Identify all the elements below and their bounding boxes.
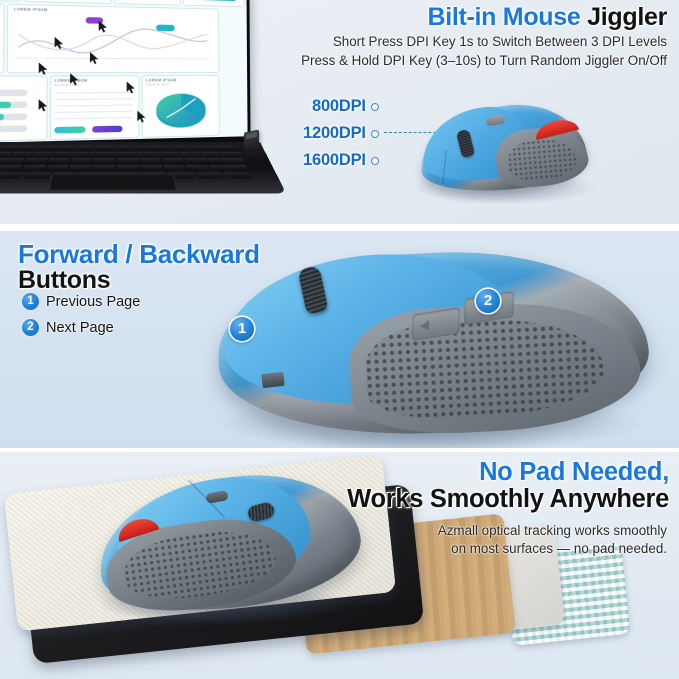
key[interactable] bbox=[57, 145, 75, 150]
panel-no-pad-needed: No Pad Needed, Works Smoothly Anywhere A… bbox=[0, 452, 679, 679]
key[interactable] bbox=[200, 152, 221, 157]
list-label-next-page: Next Page bbox=[46, 320, 114, 336]
key[interactable] bbox=[171, 145, 189, 150]
key-arrow[interactable] bbox=[196, 172, 224, 178]
panel3-heading-black: Works Smoothly Anywhere bbox=[347, 486, 669, 513]
feature-list: 1 Previous Page 2 Next Page bbox=[22, 293, 140, 345]
key[interactable] bbox=[152, 145, 170, 150]
calendar-card bbox=[0, 2, 5, 73]
chart-tag bbox=[156, 25, 175, 31]
panel2-heading-blue: Forward / Backward bbox=[18, 241, 260, 268]
panel2-heading: Forward / Backward Buttons bbox=[18, 241, 260, 293]
list-number-2: 2 bbox=[22, 319, 39, 336]
key-return[interactable] bbox=[207, 158, 245, 164]
key[interactable] bbox=[186, 165, 209, 171]
axis-ticks: · · · · · bbox=[23, 65, 34, 68]
dpi-label-1600: 1600DPI bbox=[303, 151, 366, 170]
dpi-marker-icon bbox=[371, 157, 379, 165]
key[interactable] bbox=[33, 152, 54, 157]
key[interactable] bbox=[38, 145, 57, 150]
key-control[interactable] bbox=[0, 172, 23, 178]
key-caps[interactable] bbox=[0, 158, 25, 164]
key[interactable] bbox=[93, 165, 115, 171]
key[interactable] bbox=[48, 158, 70, 164]
key[interactable] bbox=[114, 145, 131, 150]
dpi-marker-icon bbox=[371, 130, 379, 138]
key[interactable] bbox=[96, 152, 115, 157]
key[interactable] bbox=[180, 152, 201, 157]
key-option[interactable] bbox=[23, 172, 50, 178]
panel1-subtext: Short Press DPI Key 1s to Switch Between… bbox=[301, 33, 667, 71]
dpi-row: 800DPI bbox=[303, 93, 379, 120]
panel-mouse-jiggler: LOREM IPSUM LOREM IPSUM bbox=[0, 0, 679, 224]
list-button bbox=[54, 126, 85, 133]
panel3-subtext: Azmall optical tracking works smoothly o… bbox=[438, 522, 667, 558]
key[interactable] bbox=[22, 165, 45, 171]
keyboard-row bbox=[0, 145, 240, 150]
keyboard-row bbox=[0, 152, 242, 157]
trackpad[interactable] bbox=[48, 174, 177, 190]
key-delete[interactable] bbox=[208, 145, 239, 150]
panel-divider bbox=[0, 224, 679, 231]
panel3-heading-blue: No Pad Needed, bbox=[347, 459, 669, 486]
key[interactable] bbox=[159, 152, 179, 157]
dash-chip bbox=[0, 0, 21, 2]
key-shift-right[interactable] bbox=[210, 165, 249, 171]
dashboard-ui: LOREM IPSUM LOREM IPSUM bbox=[0, 0, 248, 143]
callout-badge-1: 1 bbox=[230, 317, 254, 341]
line-chart-svg bbox=[11, 15, 213, 65]
key[interactable] bbox=[18, 145, 37, 150]
feature-list-item: 1 Previous Page bbox=[22, 293, 140, 310]
panel1-sub-line2: Press & Hold DPI Key (3–10s) to Turn Ran… bbox=[301, 52, 667, 70]
key[interactable] bbox=[117, 152, 136, 157]
panel1-heading-black: Jiggler bbox=[587, 3, 667, 31]
list-button bbox=[92, 126, 122, 133]
key-tab[interactable] bbox=[0, 152, 12, 157]
dpi-label-800: 800DPI bbox=[312, 97, 366, 116]
progress-track bbox=[0, 90, 27, 97]
battery-port bbox=[261, 372, 284, 388]
callout-badge-2: 2 bbox=[476, 289, 500, 313]
dpi-marker-icon bbox=[371, 103, 379, 111]
key[interactable] bbox=[117, 158, 138, 164]
key[interactable] bbox=[140, 158, 162, 164]
panel3-sub-line1: Azmall optical tracking works smoothly bbox=[438, 522, 667, 540]
key[interactable] bbox=[140, 165, 162, 171]
key[interactable] bbox=[185, 158, 208, 164]
panel3-sub-line2: on most surfaces — no pad needed. bbox=[438, 540, 667, 558]
key[interactable] bbox=[12, 152, 33, 157]
mouse-product-top-view bbox=[200, 245, 670, 445]
list-number-1: 1 bbox=[22, 293, 39, 310]
dpi-label-1200: 1200DPI bbox=[303, 124, 366, 143]
key[interactable] bbox=[133, 145, 151, 150]
key[interactable] bbox=[46, 165, 69, 171]
key[interactable] bbox=[163, 165, 186, 171]
key[interactable] bbox=[94, 158, 115, 164]
key[interactable] bbox=[54, 152, 74, 157]
pie-chart-svg bbox=[150, 87, 212, 131]
key[interactable] bbox=[162, 158, 184, 164]
dpi-row: 1600DPI bbox=[303, 147, 379, 174]
usb-receiver bbox=[244, 130, 259, 155]
keyboard-row bbox=[0, 158, 245, 164]
product-infographic: LOREM IPSUM LOREM IPSUM bbox=[0, 0, 679, 679]
key[interactable] bbox=[76, 145, 94, 150]
key[interactable] bbox=[117, 165, 139, 171]
dpi-row: 1200DPI bbox=[303, 120, 379, 147]
key[interactable] bbox=[190, 145, 209, 150]
mouse-product-angle-view bbox=[408, 96, 598, 206]
arrow-left-icon bbox=[420, 320, 429, 332]
key-arrow[interactable] bbox=[223, 172, 251, 178]
pie-subtitle: SOLID BY 2021 bbox=[146, 83, 169, 86]
feature-list-item: 2 Next Page bbox=[22, 319, 140, 336]
chart-title: LOREM IPSUM bbox=[14, 7, 48, 12]
key[interactable] bbox=[70, 165, 92, 171]
key[interactable] bbox=[221, 152, 242, 157]
key[interactable] bbox=[71, 158, 93, 164]
key[interactable] bbox=[75, 152, 95, 157]
dash-chip bbox=[114, 0, 181, 6]
panel2-heading-black: Buttons bbox=[18, 268, 260, 294]
list-label-previous-page: Previous Page bbox=[46, 294, 140, 310]
pie-title: LOREM IPSUM bbox=[146, 78, 177, 82]
key[interactable] bbox=[0, 145, 18, 150]
key[interactable] bbox=[138, 152, 158, 157]
key-shift[interactable] bbox=[0, 165, 22, 171]
mouse-product-on-pad bbox=[88, 472, 378, 632]
panel1-heading: Bilt-in Mouse Jiggler bbox=[427, 4, 667, 31]
panel1-sub-line1: Short Press DPI Key 1s to Switch Between… bbox=[301, 33, 667, 51]
key[interactable] bbox=[25, 158, 48, 164]
key[interactable] bbox=[95, 145, 112, 150]
panel1-heading-blue: Bilt-in Mouse bbox=[427, 3, 587, 31]
panel3-heading: No Pad Needed, Works Smoothly Anywhere bbox=[347, 459, 669, 513]
panel-forward-backward: 1 2 Forward / Backward Buttons 1 Previou… bbox=[0, 231, 679, 448]
laptop-illustration: LOREM IPSUM LOREM IPSUM bbox=[0, 0, 282, 224]
dash-chip bbox=[183, 0, 245, 7]
laptop-screen: LOREM IPSUM LOREM IPSUM bbox=[0, 0, 251, 159]
keyboard-row bbox=[0, 165, 248, 171]
dpi-level-list: 800DPI 1200DPI 1600DPI bbox=[303, 93, 379, 174]
